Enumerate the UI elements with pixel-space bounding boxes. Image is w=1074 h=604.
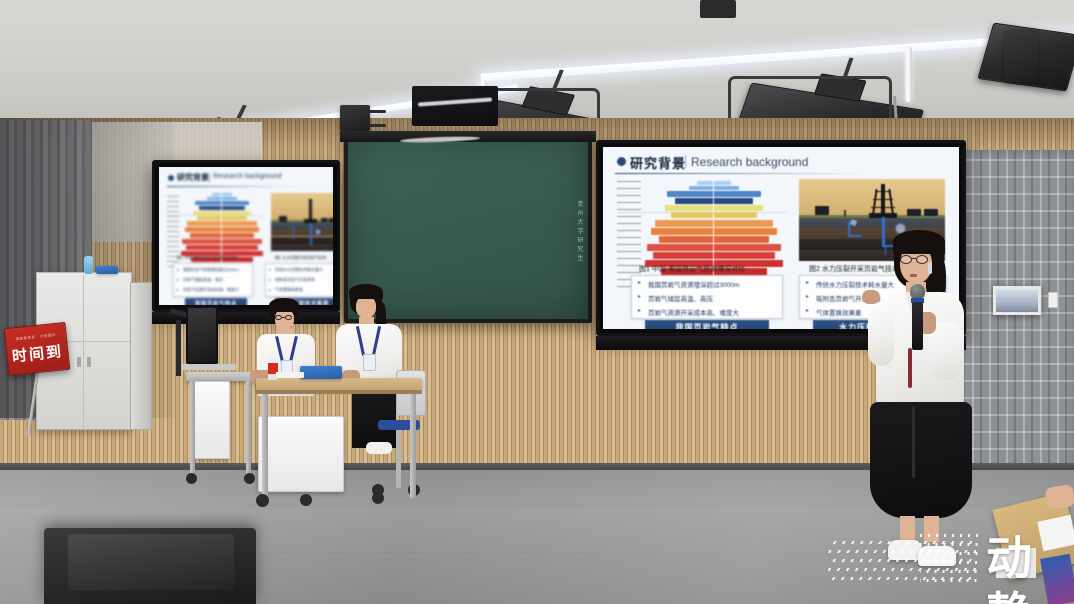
watermark-hatch-pattern-2	[920, 534, 982, 582]
figure-left-caption: 图1 中国-美国页岩气资源埋深对比	[177, 255, 238, 261]
face	[356, 296, 376, 318]
badge-cord	[908, 348, 912, 388]
desk-leg	[262, 394, 268, 498]
slide-left-banner: 我国页岩气特点	[645, 320, 769, 329]
presenter-desk-front	[256, 378, 422, 390]
bullet-text: 页岩气资源开采成本高、难度大	[183, 287, 239, 293]
bullet-text: 气体置换效果差	[275, 287, 303, 293]
display-left[interactable]: 研究背景 Research background	[152, 160, 340, 312]
slide-left-banner: 我国页岩气特点	[185, 298, 247, 305]
glasses-icon	[275, 315, 282, 320]
wall-speaker-right	[1004, 30, 1038, 82]
speaker-bracket	[368, 110, 386, 113]
bullet-text: 我国页岩气资源埋深超过3000m	[648, 279, 739, 289]
desk-caster	[256, 494, 269, 507]
hand-left	[862, 290, 880, 304]
blue-bottle	[84, 256, 93, 274]
ceiling-mount-pole	[905, 46, 912, 102]
foreground-monitor-panel	[68, 534, 234, 590]
presenter	[866, 230, 984, 550]
cabinet-handle[interactable]	[87, 357, 91, 367]
desk-caster	[244, 473, 255, 484]
bullet-text: 气体置换效果差	[816, 307, 862, 317]
chalk-tray	[340, 131, 596, 142]
desk-caster	[300, 494, 312, 506]
monitor-arm	[176, 320, 181, 376]
side-cabinet	[130, 282, 152, 430]
blue-tray	[96, 266, 118, 274]
time-up-sign-text: 时间到	[11, 340, 64, 366]
bullet-text: 我国页岩气资源埋深超过3000m	[183, 267, 239, 273]
computer-monitor[interactable]	[186, 306, 218, 364]
chalkboard-vertical-note: 贵州大学研究生	[575, 200, 584, 263]
keyboard[interactable]	[182, 364, 236, 370]
slide-title-en: Research background	[691, 155, 808, 169]
mouth	[910, 274, 917, 277]
shoe	[366, 442, 392, 454]
bullet-text: 传统水力压裂技术耗水量大	[275, 267, 323, 273]
microphone[interactable]	[912, 302, 923, 350]
judge-hand	[1045, 484, 1074, 510]
skirt-drawstring	[912, 406, 915, 478]
figure-right-caption: 图2 水力压裂开采页岩气技术	[275, 255, 326, 261]
time-up-sign: 请结束发言 · 计时提示 时间到	[4, 322, 71, 376]
paper-stack	[276, 372, 304, 378]
arm-left	[868, 304, 894, 366]
cabinet-handle[interactable]	[77, 357, 81, 367]
microphone-head	[910, 284, 925, 299]
desk-modesty-panel	[258, 416, 344, 492]
bullet-text: 页岩气资源开采成本高、难度大	[648, 307, 739, 317]
slide-title-cn: 研究背景	[630, 153, 686, 172]
slide-title-cn: 研究背景	[177, 172, 209, 183]
site-truck	[924, 209, 938, 216]
speaker-bracket	[368, 124, 386, 127]
bullet-text: 页岩气储层高温、高压	[183, 277, 223, 283]
chair-leg	[396, 430, 401, 488]
desk-modesty-panel	[194, 381, 230, 459]
earring	[928, 262, 932, 274]
desk-caster	[186, 473, 197, 484]
bullet-text: 页岩气储层高温、高压	[648, 293, 713, 303]
fracking-diagram	[271, 193, 333, 251]
framed-picture	[993, 286, 1041, 315]
glasses-icon	[285, 315, 292, 320]
slide-left-bullet-box: ▸ 我国页岩气资源埋深超过3000m ▸ 页岩气储层高温、高压 ▸ 页岩气资源开…	[173, 263, 253, 297]
skirt	[870, 402, 972, 518]
slide-bullet-dot-icon	[617, 157, 626, 166]
desk-edge	[256, 390, 422, 394]
wall-switch-plate	[1048, 292, 1058, 308]
site-truck	[907, 209, 921, 216]
broadcaster-watermark: 动静	[828, 530, 1068, 592]
desk-leg	[190, 381, 195, 477]
name-badge	[363, 354, 376, 371]
desk-caster	[372, 492, 384, 504]
glasses-icon	[916, 255, 928, 264]
slide-right-bullet-box: ▸ 传统水力压裂技术耗水量大 ▸ 吸附态页岩气开采率低 ▸ 气体置换效果差	[265, 263, 333, 297]
display-left-screen: 研究背景 Research background	[159, 167, 333, 305]
site-truck	[815, 206, 829, 215]
ceiling-projector-mount	[700, 0, 736, 18]
glasses-icon	[900, 255, 912, 264]
slide-left-bullet-box: ▸ 我国页岩气资源埋深超过3000m ▸ 页岩气储层高温、高压 ▸ 页岩气资源开…	[631, 275, 783, 319]
figure-left-caption: 图1 中国-美国页岩气资源埋深对比	[639, 264, 745, 274]
chart-axis-labels	[617, 181, 641, 287]
watermark-text: 动静	[986, 530, 1068, 604]
slide-title-en: Research background	[213, 173, 282, 180]
desk-leg	[246, 381, 251, 477]
slide-left: 研究背景 Research background	[159, 167, 333, 305]
classroom-scene: 研究背景 Research background	[0, 0, 1074, 604]
bullet-text: 吸附态页岩气开采率低	[275, 277, 315, 283]
blue-box-on-desk	[300, 366, 342, 379]
desk-leg	[410, 394, 416, 498]
wall-speaker	[340, 105, 370, 131]
foreground-object	[0, 560, 60, 604]
